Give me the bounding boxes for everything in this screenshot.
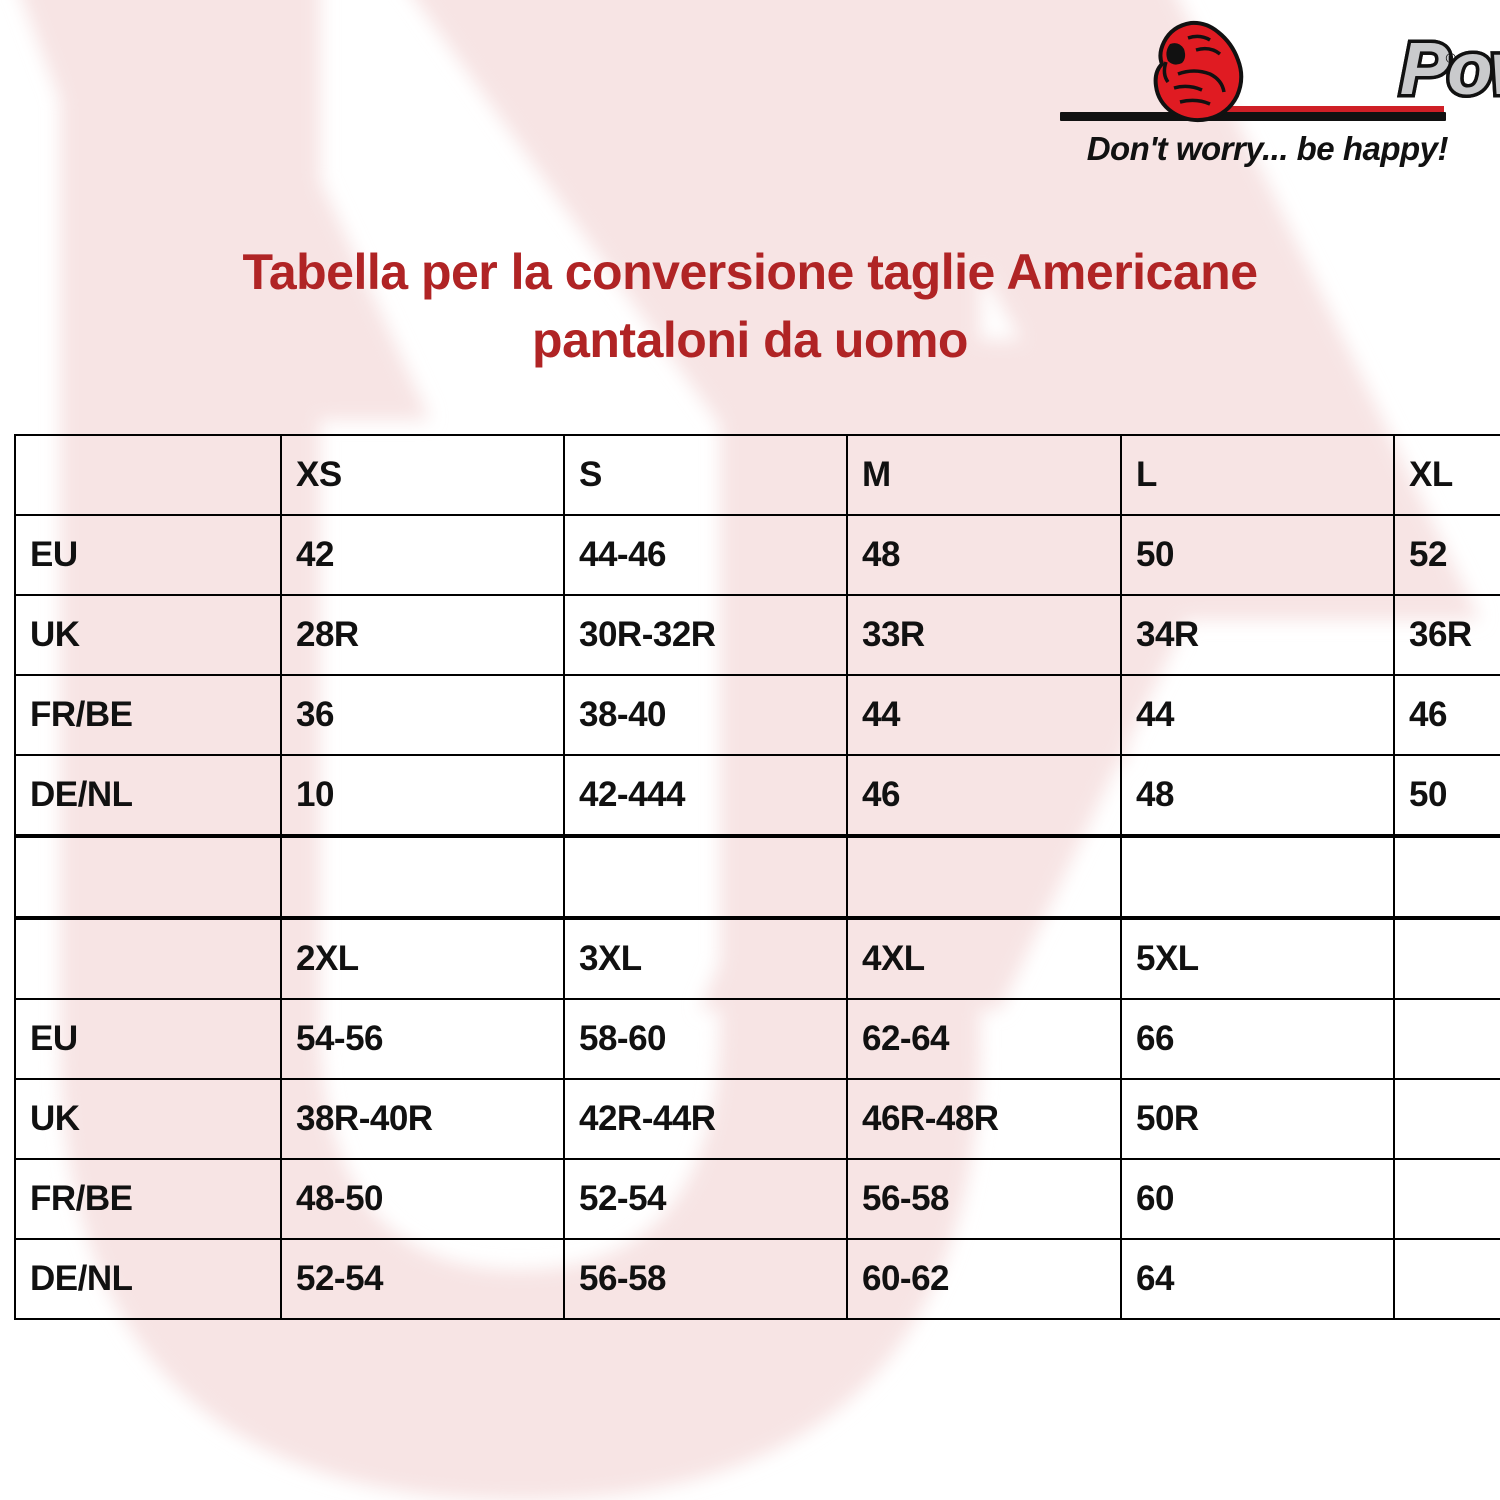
registered-trademark-icon: ® <box>1446 50 1456 66</box>
cell-uk-xl: 36R <box>1394 595 1500 675</box>
cell-denl-xl: 50 <box>1394 755 1500 836</box>
cell-denl-s: 42-444 <box>564 755 847 836</box>
logo-mark: U. U. Power Power ® <box>1052 28 1452 124</box>
header-4xl: 4XL <box>847 918 1121 999</box>
table-row: EU 42 44-46 48 50 52 <box>15 515 1500 595</box>
header-corner-1 <box>15 435 281 515</box>
cell-denl-5xl: 64 <box>1121 1239 1394 1319</box>
table-header-row-1: XS S M L XL <box>15 435 1500 515</box>
cell-denl-2xl: 52-54 <box>281 1239 564 1319</box>
row-label-eu-1: EU <box>15 515 281 595</box>
cell-denl-3xl: 56-58 <box>564 1239 847 1319</box>
cell-frbe-xl: 46 <box>1394 675 1500 755</box>
table-row: DE/NL 10 42-444 46 48 50 <box>15 755 1500 836</box>
cell-uk-5xl: 50R <box>1121 1079 1394 1159</box>
cell-eu-empty <box>1394 999 1500 1079</box>
cell-uk-4xl: 46R-48R <box>847 1079 1121 1159</box>
size-conversion-table-wrapper: XS S M L XL EU 42 44-46 48 50 52 UK 28R … <box>14 434 1487 1320</box>
row-label-uk-1: UK <box>15 595 281 675</box>
cell-eu-4xl: 62-64 <box>847 999 1121 1079</box>
spacer-cell-1 <box>281 836 564 918</box>
table-row: EU 54-56 58-60 62-64 66 <box>15 999 1500 1079</box>
header-s: S <box>564 435 847 515</box>
logo-power-fill: Power <box>1400 32 1500 106</box>
row-label-uk-2: UK <box>15 1079 281 1159</box>
spacer-cell-4 <box>1121 836 1394 918</box>
spacer-cell-0 <box>15 836 281 918</box>
spacer-cell-5 <box>1394 836 1500 918</box>
cell-eu-2xl: 54-56 <box>281 999 564 1079</box>
cell-denl-4xl: 60-62 <box>847 1239 1121 1319</box>
cell-frbe-m: 44 <box>847 675 1121 755</box>
table-row: FR/BE 36 38-40 44 44 46 <box>15 675 1500 755</box>
row-label-denl-1: DE/NL <box>15 755 281 836</box>
cell-eu-l: 50 <box>1121 515 1394 595</box>
cell-denl-xs: 10 <box>281 755 564 836</box>
header-corner-2 <box>15 918 281 999</box>
row-label-denl-2: DE/NL <box>15 1239 281 1319</box>
cell-uk-3xl: 42R-44R <box>564 1079 847 1159</box>
table-row: UK 28R 30R-32R 33R 34R 36R <box>15 595 1500 675</box>
header-l: L <box>1121 435 1394 515</box>
size-conversion-table: XS S M L XL EU 42 44-46 48 50 52 UK 28R … <box>14 434 1500 1320</box>
brand-logo: U. U. Power Power ® Don't worry... be ha… <box>1052 28 1452 168</box>
spacer-cell-2 <box>564 836 847 918</box>
header-xl: XL <box>1394 435 1500 515</box>
cell-frbe-5xl: 60 <box>1121 1159 1394 1239</box>
cell-uk-m: 33R <box>847 595 1121 675</box>
cell-eu-s: 44-46 <box>564 515 847 595</box>
row-label-frbe-2: FR/BE <box>15 1159 281 1239</box>
table-row: DE/NL 52-54 56-58 60-62 64 <box>15 1239 1500 1319</box>
cell-frbe-empty <box>1394 1159 1500 1239</box>
row-label-eu-2: EU <box>15 999 281 1079</box>
page-title-line-1: Tabella per la conversione taglie Americ… <box>242 244 1257 300</box>
header-m: M <box>847 435 1121 515</box>
cell-eu-xl: 52 <box>1394 515 1500 595</box>
cell-uk-s: 30R-32R <box>564 595 847 675</box>
cell-frbe-l: 44 <box>1121 675 1394 755</box>
cell-eu-xs: 42 <box>281 515 564 595</box>
table-spacer-row <box>15 836 1500 918</box>
cell-eu-3xl: 58-60 <box>564 999 847 1079</box>
cell-frbe-s: 38-40 <box>564 675 847 755</box>
logo-power-text: Power Power <box>1400 32 1500 106</box>
cell-denl-m: 46 <box>847 755 1121 836</box>
cell-uk-l: 34R <box>1121 595 1394 675</box>
cell-uk-xs: 28R <box>281 595 564 675</box>
row-label-frbe-1: FR/BE <box>15 675 281 755</box>
cell-eu-5xl: 66 <box>1121 999 1394 1079</box>
gorilla-head-icon <box>1144 20 1254 125</box>
brand-tagline: Don't worry... be happy! <box>1052 130 1452 168</box>
cell-denl-empty <box>1394 1239 1500 1319</box>
cell-frbe-3xl: 52-54 <box>564 1159 847 1239</box>
cell-frbe-2xl: 48-50 <box>281 1159 564 1239</box>
cell-uk-2xl: 38R-40R <box>281 1079 564 1159</box>
header-empty-2 <box>1394 918 1500 999</box>
cell-frbe-4xl: 56-58 <box>847 1159 1121 1239</box>
table-row: FR/BE 48-50 52-54 56-58 60 <box>15 1159 1500 1239</box>
cell-denl-l: 48 <box>1121 755 1394 836</box>
page-title: Tabella per la conversione taglie Americ… <box>40 238 1460 374</box>
header-xs: XS <box>281 435 564 515</box>
table-row: UK 38R-40R 42R-44R 46R-48R 50R <box>15 1079 1500 1159</box>
header-3xl: 3XL <box>564 918 847 999</box>
cell-frbe-xs: 36 <box>281 675 564 755</box>
cell-eu-m: 48 <box>847 515 1121 595</box>
table-header-row-2: 2XL 3XL 4XL 5XL <box>15 918 1500 999</box>
header-5xl: 5XL <box>1121 918 1394 999</box>
spacer-cell-3 <box>847 836 1121 918</box>
header-2xl: 2XL <box>281 918 564 999</box>
cell-uk-empty <box>1394 1079 1500 1159</box>
page-title-line-2: pantaloni da uomo <box>40 306 1460 374</box>
